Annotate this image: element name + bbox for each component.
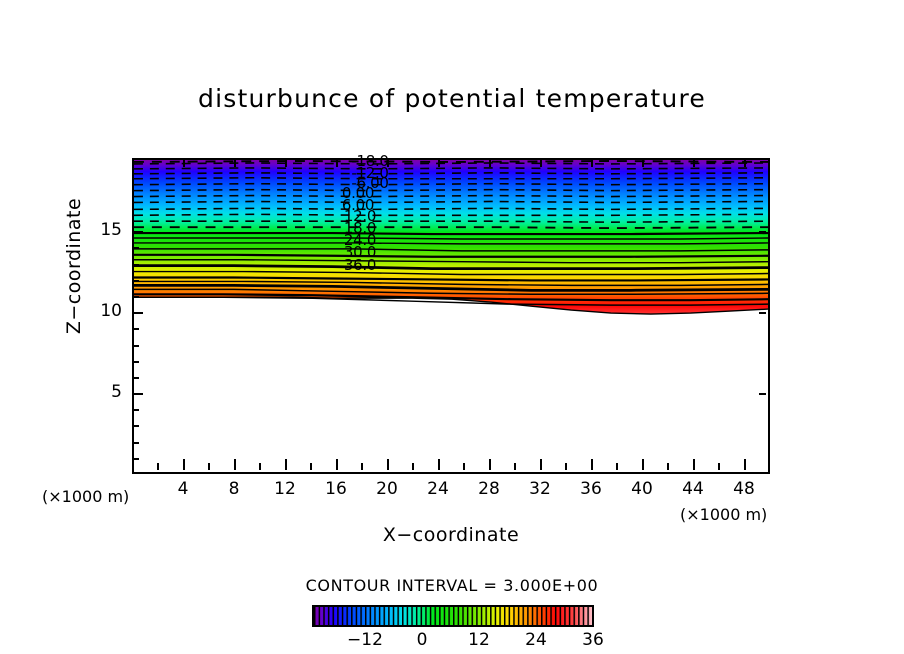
y-minor-tick [132,247,139,249]
y-minor-tick [132,409,139,411]
x-tick-label: 36 [571,479,611,499]
x-major-tick [387,459,389,470]
plot-area [132,158,770,474]
y-unit-label: (×1000 m) [42,487,129,506]
x-major-tick [234,459,236,470]
y-minor-tick [132,328,139,330]
x-tick-label: 24 [418,479,458,499]
x-minor-tick [361,463,363,470]
x-minor-tick [514,463,516,470]
colorbar-tick-label: 12 [457,630,501,650]
x-major-tick [591,459,593,470]
x-major-tick [642,459,644,470]
x-tick-label: 20 [367,479,407,499]
colorbar-tick-label: 36 [571,630,615,650]
x-major-tick [540,459,542,470]
contour-label-9: 36.0 [344,256,376,274]
y-minor-tick [132,425,139,427]
x-top-tick [438,158,440,167]
x-tick-label: 12 [265,479,305,499]
y-minor-tick [132,280,139,282]
x-tick-label: 44 [673,479,713,499]
x-minor-tick [412,463,414,470]
x-minor-tick [565,463,567,470]
y-right-tick [759,312,766,314]
x-major-tick [285,459,287,470]
y-minor-tick [132,361,139,363]
x-top-tick [387,158,389,167]
x-minor-tick [157,463,159,470]
x-axis-title: X−coordinate [132,524,770,546]
y-major-tick [132,312,143,314]
x-tick-label: 16 [316,479,356,499]
colorbar-tick-label: 0 [400,630,444,650]
y-minor-tick [132,296,139,298]
x-top-tick [489,158,491,167]
contour-plot [134,160,768,472]
y-major-tick [132,393,143,395]
x-top-tick [591,158,593,167]
x-tick-label: 4 [163,479,203,499]
x-minor-tick [718,463,720,470]
y-minor-tick [132,458,139,460]
x-minor-tick [616,463,618,470]
y-minor-tick [132,264,139,266]
y-tick-label: 5 [86,382,122,402]
y-right-tick [759,393,766,395]
y-minor-tick [132,442,139,444]
y-major-tick [132,231,143,233]
y-tick-label: 10 [86,301,122,321]
x-top-tick [183,158,185,167]
chart-title: disturbunce of potential temperature [0,84,904,113]
y-right-tick [759,231,766,233]
colorbar [312,605,594,627]
x-tick-label: 32 [520,479,560,499]
x-minor-tick [667,463,669,470]
x-major-tick [336,459,338,470]
x-tick-label: 28 [469,479,509,499]
x-unit-label: (×1000 m) [680,505,767,524]
x-top-tick [285,158,287,167]
x-top-tick [744,158,746,167]
x-top-tick [693,158,695,167]
x-tick-label: 8 [214,479,254,499]
x-top-tick [642,158,644,167]
y-axis-title: Z−coordinate [63,166,85,366]
x-top-tick [540,158,542,167]
colorbar-tick-label: −12 [343,630,387,650]
x-minor-tick [208,463,210,470]
colorbar-tick-label: 24 [514,630,558,650]
x-minor-tick [463,463,465,470]
colorbar-gradient [314,607,592,625]
x-major-tick [489,459,491,470]
x-major-tick [183,459,185,470]
contour-interval-caption: CONTOUR INTERVAL = 3.000E+00 [0,576,904,595]
x-minor-tick [259,463,261,470]
x-major-tick [744,459,746,470]
x-tick-label: 48 [724,479,764,499]
figure-canvas: disturbunce of potential temperature [0,0,904,654]
y-tick-label: 15 [86,220,122,240]
x-tick-label: 40 [622,479,662,499]
x-top-tick [234,158,236,167]
x-major-tick [438,459,440,470]
x-major-tick [693,459,695,470]
y-minor-tick [132,377,139,379]
x-minor-tick [310,463,312,470]
y-minor-tick [132,345,139,347]
x-top-tick [336,158,338,167]
